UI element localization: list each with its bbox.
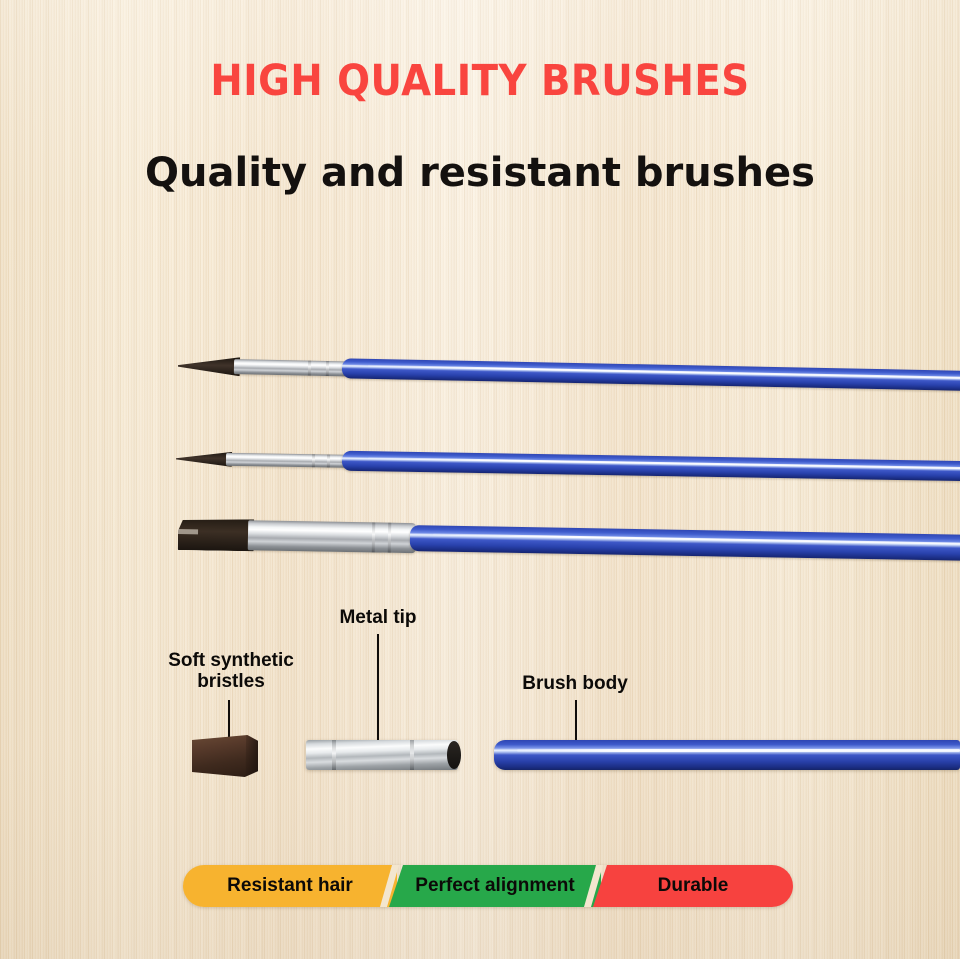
feature-segment-resistant-hair[interactable]: Resistant hair <box>183 865 397 907</box>
callout-bristles-line2: bristles <box>136 671 326 692</box>
callout-brush-body-line1: Brush body <box>485 673 665 694</box>
brush-bristles <box>178 518 255 551</box>
feature-segment-perfect-alignment[interactable]: Perfect alignment <box>389 865 601 907</box>
callout-label-metal-tip: Metal tip <box>288 607 468 628</box>
feature-label: Resistant hair <box>227 875 353 897</box>
callout-label-bristles: Soft synthetic bristles <box>136 650 326 693</box>
background-shading <box>0 0 960 959</box>
callout-metal-tip-line1: Metal tip <box>288 607 468 628</box>
brush-ferrule <box>226 453 346 468</box>
page-title: HIGH QUALITY BRUSHES <box>0 56 960 106</box>
brush-bristles <box>176 451 232 467</box>
brush-ferrule <box>234 359 346 376</box>
feature-segment-durable[interactable]: Durable <box>593 865 793 907</box>
feature-label: Perfect alignment <box>415 875 574 897</box>
callout-bristles-line1: Soft synthetic <box>136 650 326 671</box>
brush-ferrule <box>248 520 416 553</box>
part-metal-ferrule <box>306 740 458 770</box>
part-handle-rod <box>494 740 960 770</box>
infographic-canvas: HIGH QUALITY BRUSHES Quality and resista… <box>0 0 960 959</box>
leader-line-metal-tip <box>377 634 379 747</box>
feature-pill-bar: Resistant hair Perfect alignment Durable <box>183 865 793 907</box>
part-bristle-block <box>192 735 258 777</box>
callout-label-brush-body: Brush body <box>485 673 665 694</box>
page-subtitle: Quality and resistant brushes <box>0 150 960 196</box>
feature-label: Durable <box>658 875 729 897</box>
brush-bristles <box>178 356 240 376</box>
